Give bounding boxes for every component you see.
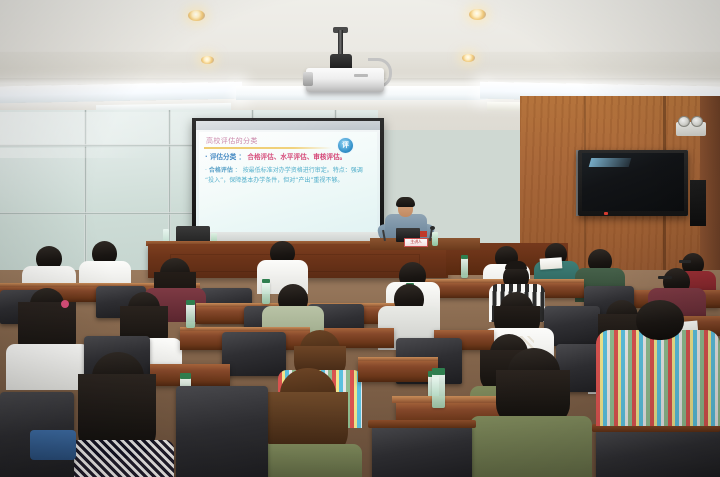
wall-speaker-icon <box>690 180 706 226</box>
slide-bullet-1: · 评估分类 ： 合格评估、水平评估、审核评估。 <box>205 153 367 163</box>
bottle-cap <box>432 368 445 375</box>
bullet-1-lead: 评估分类 <box>210 153 236 161</box>
attendee-hair <box>505 261 527 269</box>
bullet-2-lead: 合格评估 <box>209 167 233 174</box>
glasses-icon <box>658 276 672 279</box>
presenter-name-card-text: 主讲人 <box>404 239 428 245</box>
slide-bullet-2: · 合格评估 ： 按最低标准对办学资格进行审定。特点：强调“投入”，保障基本办学… <box>205 166 363 185</box>
projector-lens-icon <box>303 72 313 86</box>
attendee-torso-patterned <box>62 440 174 477</box>
attendee-torso <box>470 416 592 477</box>
bottle-cap <box>262 279 270 283</box>
bottle-cap <box>186 300 195 305</box>
attendee-head <box>636 300 684 340</box>
downlight-icon <box>201 56 214 64</box>
chair <box>222 332 286 376</box>
desk-object-red <box>420 231 427 237</box>
chair <box>176 386 268 477</box>
hair-tie-icon <box>61 300 69 308</box>
bullet-marker: · <box>205 153 208 161</box>
notepad <box>540 257 563 270</box>
tv-glare-reflection <box>589 158 632 167</box>
downlight-icon <box>469 9 486 20</box>
projector-mount-rod <box>338 30 343 56</box>
bottle-cap <box>461 255 468 259</box>
projector-vent <box>354 74 368 77</box>
water-bottle <box>461 258 468 278</box>
desk-row <box>358 360 438 382</box>
slide-logo-glyph: 评 <box>337 140 354 150</box>
lecture-hall-photo: 高校评估的分类 评 · 评估分类 ： 合格评估、水平评估、审核评估。 · 合格评… <box>0 0 720 477</box>
desk-row-edge <box>358 357 438 361</box>
glass-reflection <box>0 148 150 158</box>
slide-accent-rule <box>204 147 332 149</box>
bullet-1-separator: ： <box>238 153 245 161</box>
glass-reflection <box>0 112 210 146</box>
water-bottle <box>186 304 195 328</box>
bullet-1-body: 合格评估、水平评估、审核评估。 <box>247 153 346 161</box>
bullet-marker: · <box>205 167 207 174</box>
downlight-icon <box>188 10 205 21</box>
tv-power-led-icon <box>604 212 608 215</box>
slide-title: 高校评估的分类 <box>206 136 326 146</box>
chair-wood-trim <box>368 420 476 428</box>
glasses-icon <box>679 260 691 263</box>
handbag <box>30 430 76 460</box>
emergency-light-lamp <box>691 116 703 127</box>
chair <box>372 424 472 477</box>
water-bottle <box>432 232 438 246</box>
attendee-torso-striped <box>596 330 720 426</box>
emergency-light-lamp <box>678 116 690 127</box>
microphone-head-icon <box>430 226 435 230</box>
bottle-cap <box>180 373 191 379</box>
downlight-icon <box>462 54 475 62</box>
chair <box>596 428 720 477</box>
water-bottle <box>262 282 270 304</box>
attendee-torso <box>252 444 362 477</box>
ceiling-projector-icon <box>306 68 384 92</box>
projection-screen-top-band <box>196 121 380 130</box>
water-bottle <box>432 374 445 408</box>
bullet-2-separator: ： <box>235 167 241 174</box>
desk-row-edge <box>180 327 310 331</box>
presenter-hair <box>396 197 415 207</box>
